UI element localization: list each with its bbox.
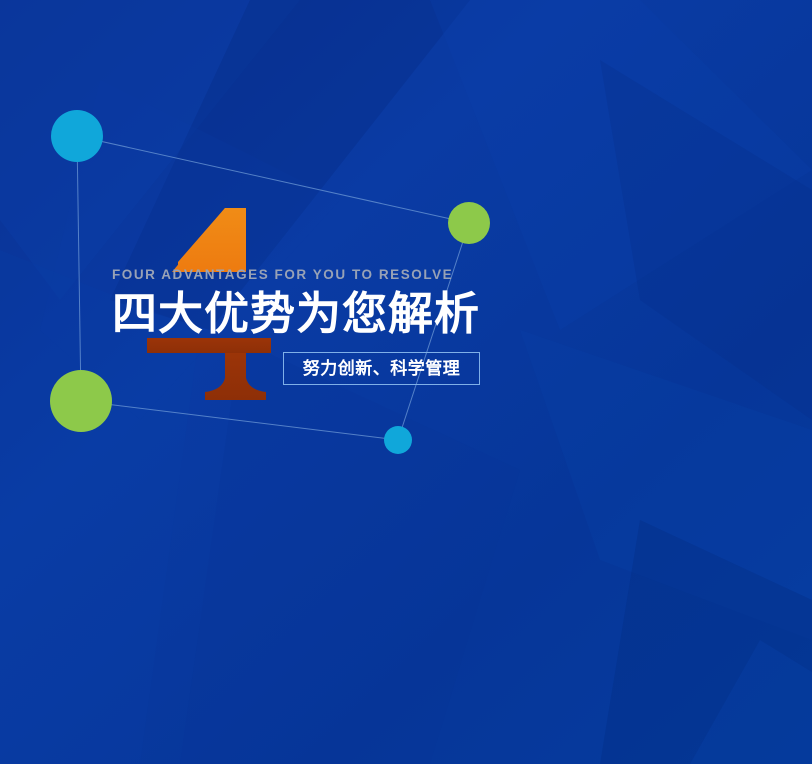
hero-eyebrow: FOUR ADVANTAGES FOR YOU TO RESOLVE [112, 268, 712, 282]
numeral-four-pedestal [205, 353, 266, 400]
hero-tagline: 努力创新、科学管理 [303, 360, 461, 377]
numeral-four-crossbar [147, 338, 271, 353]
hero-headline: 四大优势为您解析 [112, 291, 712, 338]
hero-banner: FOUR ADVANTAGES FOR YOU TO RESOLVE 四大优势为… [0, 0, 812, 764]
hero-tagline-box: 努力创新、科学管理 [283, 352, 480, 385]
hero-text-block: FOUR ADVANTAGES FOR YOU TO RESOLVE 四大优势为… [112, 268, 712, 337]
